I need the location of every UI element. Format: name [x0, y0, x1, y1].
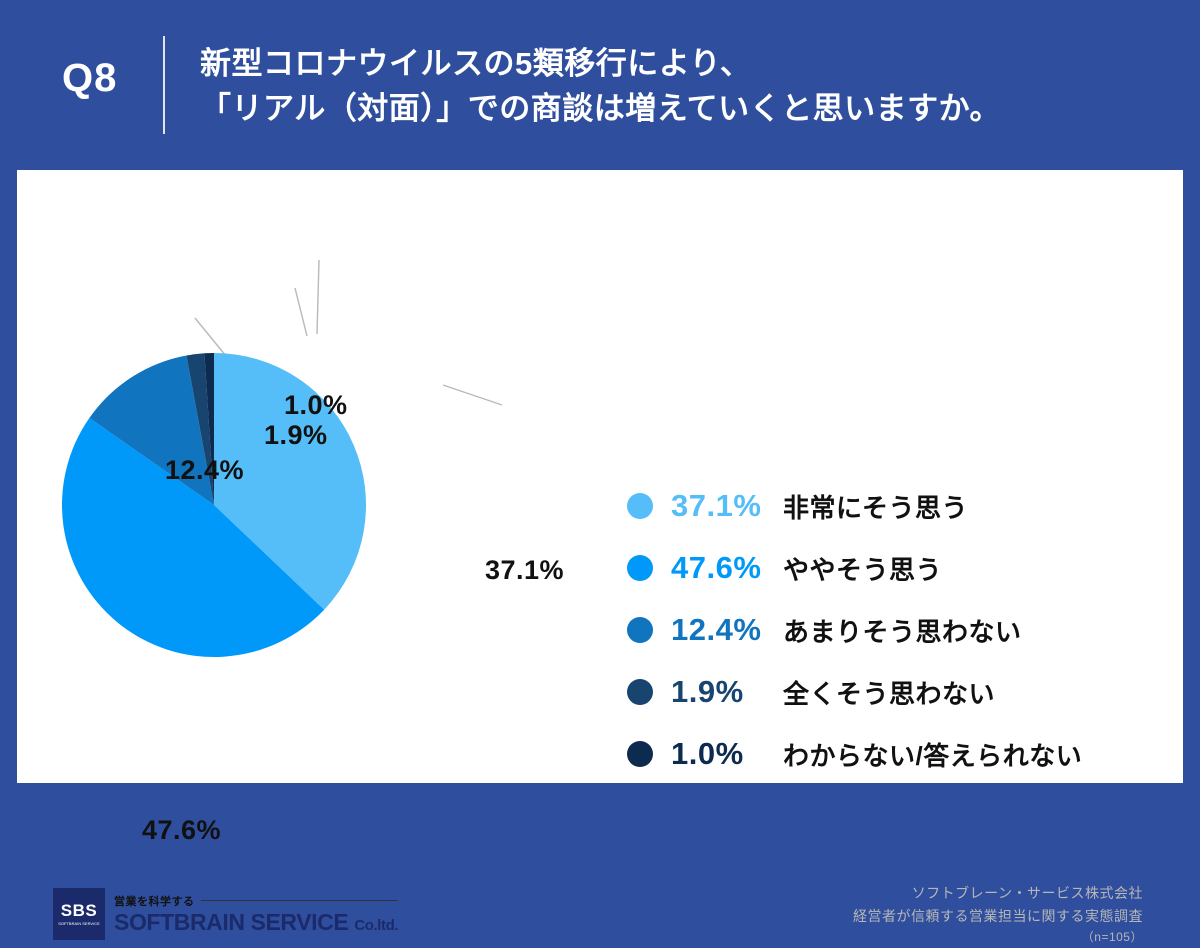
credit-survey-name: 経営者が信頼する営業担当に関する実態調査	[853, 905, 1143, 928]
credit-company: ソフトブレーン・サービス株式会社	[853, 882, 1143, 905]
logo-tagline: 営業を科学する	[114, 893, 195, 909]
legend-item-4[interactable]: 1.0%わからない/答えられない	[627, 723, 1187, 785]
credit-block: ソフトブレーン・サービス株式会社 経営者が信頼する営業担当に関する実態調査 （n…	[853, 882, 1143, 948]
logo-mark-subtext: SOFTBRAIN SERVICE	[58, 922, 100, 926]
legend-percent: 12.4%	[671, 612, 783, 648]
legend-swatch-icon	[627, 555, 653, 581]
slide-root: Q8 新型コロナウイルスの5類移行により、 「リアル（対面）」での商談は増えてい…	[0, 0, 1200, 800]
legend-swatch-icon	[627, 617, 653, 643]
header-banner: Q8 新型コロナウイルスの5類移行により、 「リアル（対面）」での商談は増えてい…	[0, 0, 1200, 170]
leader-line-124	[195, 318, 226, 356]
legend-label: 全くそう思わない	[783, 674, 995, 711]
question-number: Q8	[62, 58, 117, 98]
legend-swatch-icon	[627, 679, 653, 705]
logo-rule	[201, 900, 399, 901]
credit-sample-size: （n=105）	[853, 928, 1143, 948]
logo-name-row: SOFTBRAIN SERVICE Co.ltd.	[114, 910, 398, 935]
legend-label: ややそう思う	[783, 550, 942, 587]
header-divider	[163, 36, 165, 134]
chart-legend: 37.1%非常にそう思う47.6%ややそう思う12.4%あまりそう思わない1.9…	[627, 475, 1187, 785]
logo-wordmark: 営業を科学する SOFTBRAIN SERVICE Co.ltd.	[114, 893, 398, 935]
logo-mark: SBS SOFTBRAIN SERVICE	[53, 888, 105, 940]
legend-percent: 47.6%	[671, 550, 783, 586]
legend-label: あまりそう思わない	[783, 612, 1022, 649]
legend-percent: 1.0%	[671, 736, 783, 772]
leader-line-19	[295, 288, 307, 336]
pie-label-124: 12.4%	[165, 455, 244, 486]
legend-item-3[interactable]: 1.9%全くそう思わない	[627, 661, 1187, 723]
legend-swatch-icon	[627, 493, 653, 519]
company-logo: SBS SOFTBRAIN SERVICE 営業を科学する SOFTBRAIN …	[53, 888, 398, 940]
pie-label-371: 37.1%	[485, 555, 564, 586]
content-card: 37.1% 47.6% 12.4% 1.9% 1.0% 37.1%非常にそう思う…	[17, 170, 1183, 783]
logo-name: SOFTBRAIN SERVICE	[114, 909, 348, 935]
logo-mark-text: SBS	[61, 902, 97, 919]
legend-percent: 37.1%	[671, 488, 783, 524]
pie-label-19: 1.9%	[264, 420, 328, 451]
legend-swatch-icon	[627, 741, 653, 767]
page-title-line1: 新型コロナウイルスの5類移行により、	[200, 46, 751, 81]
legend-item-2[interactable]: 12.4%あまりそう思わない	[627, 599, 1187, 661]
logo-tagline-row: 営業を科学する	[114, 893, 398, 909]
legend-item-0[interactable]: 37.1%非常にそう思う	[627, 475, 1187, 537]
page-title-line2: 「リアル（対面）」での商談は増えていくと思いますか。	[200, 87, 1160, 132]
logo-suffix: Co.ltd.	[354, 917, 398, 934]
legend-percent: 1.9%	[671, 674, 783, 710]
legend-label: わからない/答えられない	[783, 736, 1082, 773]
pie-label-476: 47.6%	[142, 815, 221, 846]
legend-label: 非常にそう思う	[783, 488, 968, 525]
page-title: 新型コロナウイルスの5類移行により、 「リアル（対面）」での商談は増えていくと思…	[200, 42, 1160, 132]
legend-item-1[interactable]: 47.6%ややそう思う	[627, 537, 1187, 599]
pie-label-10: 1.0%	[284, 390, 348, 421]
leader-line-371	[443, 385, 502, 405]
leader-line-10	[317, 260, 319, 334]
